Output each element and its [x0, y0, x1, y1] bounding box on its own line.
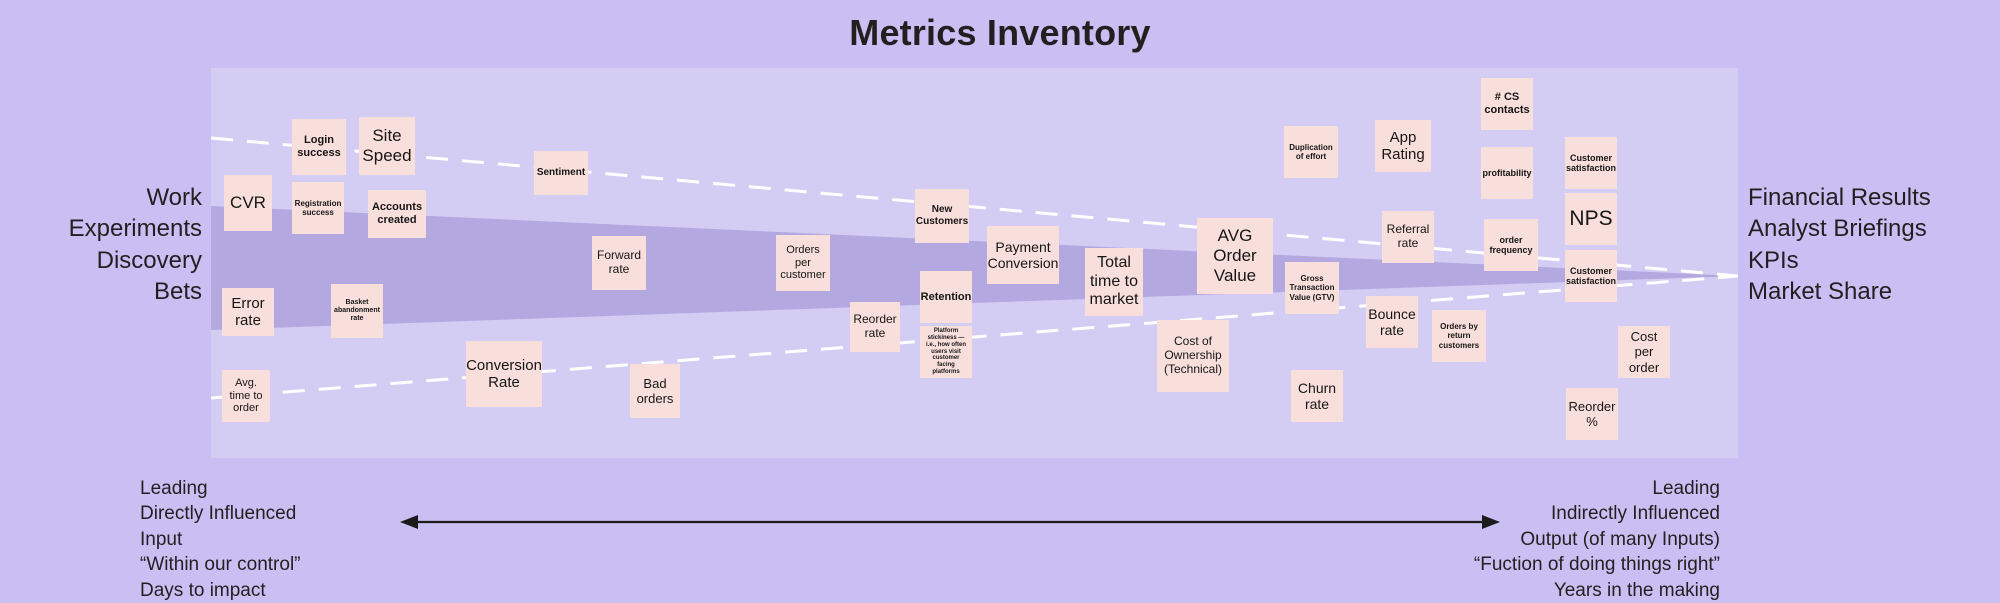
metric-card[interactable]: Platform stickiness — i.e., how often us… — [920, 326, 972, 378]
legend-right-0: Leading — [1140, 476, 1720, 501]
left-label-1: Experiments — [20, 213, 202, 244]
metric-card[interactable]: Retention — [920, 271, 972, 323]
metric-card[interactable]: Basket abandonment rate — [331, 284, 383, 338]
metric-card[interactable]: Error rate — [222, 288, 274, 336]
right-label-3: Market Share — [1748, 276, 2000, 307]
metric-card[interactable]: Site Speed — [359, 117, 415, 175]
metrics-inventory-canvas: Metrics Inventory CVRLogin successSite S… — [0, 0, 2000, 600]
metric-card[interactable]: # CS contacts — [1481, 78, 1533, 130]
metric-card[interactable]: Duplication of effort — [1284, 126, 1338, 178]
right-label-0: Financial Results — [1748, 182, 2000, 213]
left-side-labels: Work Experiments Discovery Bets — [20, 182, 202, 308]
metric-card[interactable]: Reorder rate — [850, 302, 900, 352]
metric-card[interactable]: Bounce rate — [1366, 296, 1418, 348]
metric-card[interactable]: Login success — [292, 119, 346, 175]
metric-card[interactable]: Conversion Rate — [466, 341, 542, 407]
metric-card[interactable]: Registration success — [292, 182, 344, 234]
metric-card[interactable]: Customer satisfaction — [1565, 137, 1617, 189]
double-headed-arrow-icon — [400, 505, 1500, 539]
metric-card[interactable]: NPS — [1565, 193, 1617, 245]
metric-card[interactable]: profitability — [1481, 147, 1533, 199]
metric-card[interactable]: order frequency — [1484, 219, 1538, 271]
left-label-2: Discovery — [20, 245, 202, 276]
metric-card[interactable]: Forward rate — [592, 236, 646, 290]
metric-card[interactable]: Cost of Ownership (Technical) — [1157, 320, 1229, 392]
legend-left-0: Leading — [140, 476, 422, 501]
metric-card[interactable]: Customer satisfaction — [1565, 250, 1617, 302]
metric-card[interactable]: App Rating — [1375, 120, 1431, 172]
right-label-2: KPIs — [1748, 245, 2000, 276]
legend-left-4: Days to impact — [140, 578, 422, 603]
page-title: Metrics Inventory — [0, 12, 2000, 54]
metric-card[interactable]: New Customers — [915, 189, 969, 243]
metric-card[interactable]: Gross Transaction Value (GTV) — [1285, 262, 1339, 314]
legend-right-4: Years in the making — [1140, 578, 1720, 603]
metric-card[interactable]: AVG Order Value — [1197, 218, 1273, 294]
metric-card[interactable]: CVR — [224, 175, 272, 231]
metric-card[interactable]: Bad orders — [630, 364, 680, 418]
metric-card[interactable]: Cost per order — [1618, 326, 1670, 378]
metric-card[interactable]: Avg. time to order — [222, 370, 270, 422]
funnel-board: CVRLogin successSite SpeedRegistration s… — [211, 68, 1738, 458]
left-label-0: Work — [20, 182, 202, 213]
metric-card[interactable]: Orders by return customers — [1432, 310, 1486, 362]
right-side-labels: Financial Results Analyst Briefings KPIs… — [1748, 182, 2000, 308]
metric-card[interactable]: Churn rate — [1291, 370, 1343, 422]
legend-left-2: Input — [140, 527, 422, 552]
legend-left-1: Directly Influenced — [140, 501, 422, 526]
metric-card[interactable]: Orders per customer — [776, 235, 830, 291]
metric-card[interactable]: Reorder % — [1566, 388, 1618, 440]
right-label-1: Analyst Briefings — [1748, 213, 2000, 244]
metric-card[interactable]: Referral rate — [1382, 211, 1434, 263]
legend-right-3: “Fuction of doing things right” — [1140, 552, 1720, 577]
metric-card[interactable]: Total time to market — [1085, 248, 1143, 316]
left-label-3: Bets — [20, 276, 202, 307]
metric-card[interactable]: Accounts created — [368, 190, 426, 238]
metric-card[interactable]: Payment Conversion — [987, 226, 1059, 284]
legend-lagging-output: Leading Indirectly Influenced Output (of… — [1140, 476, 1720, 603]
metric-card[interactable]: Sentiment — [534, 151, 588, 195]
legend-left-3: “Within our control” — [140, 552, 422, 577]
spectrum-arrow — [400, 505, 1500, 539]
legend-leading-input: Leading Directly Influenced Input “Withi… — [140, 476, 422, 603]
